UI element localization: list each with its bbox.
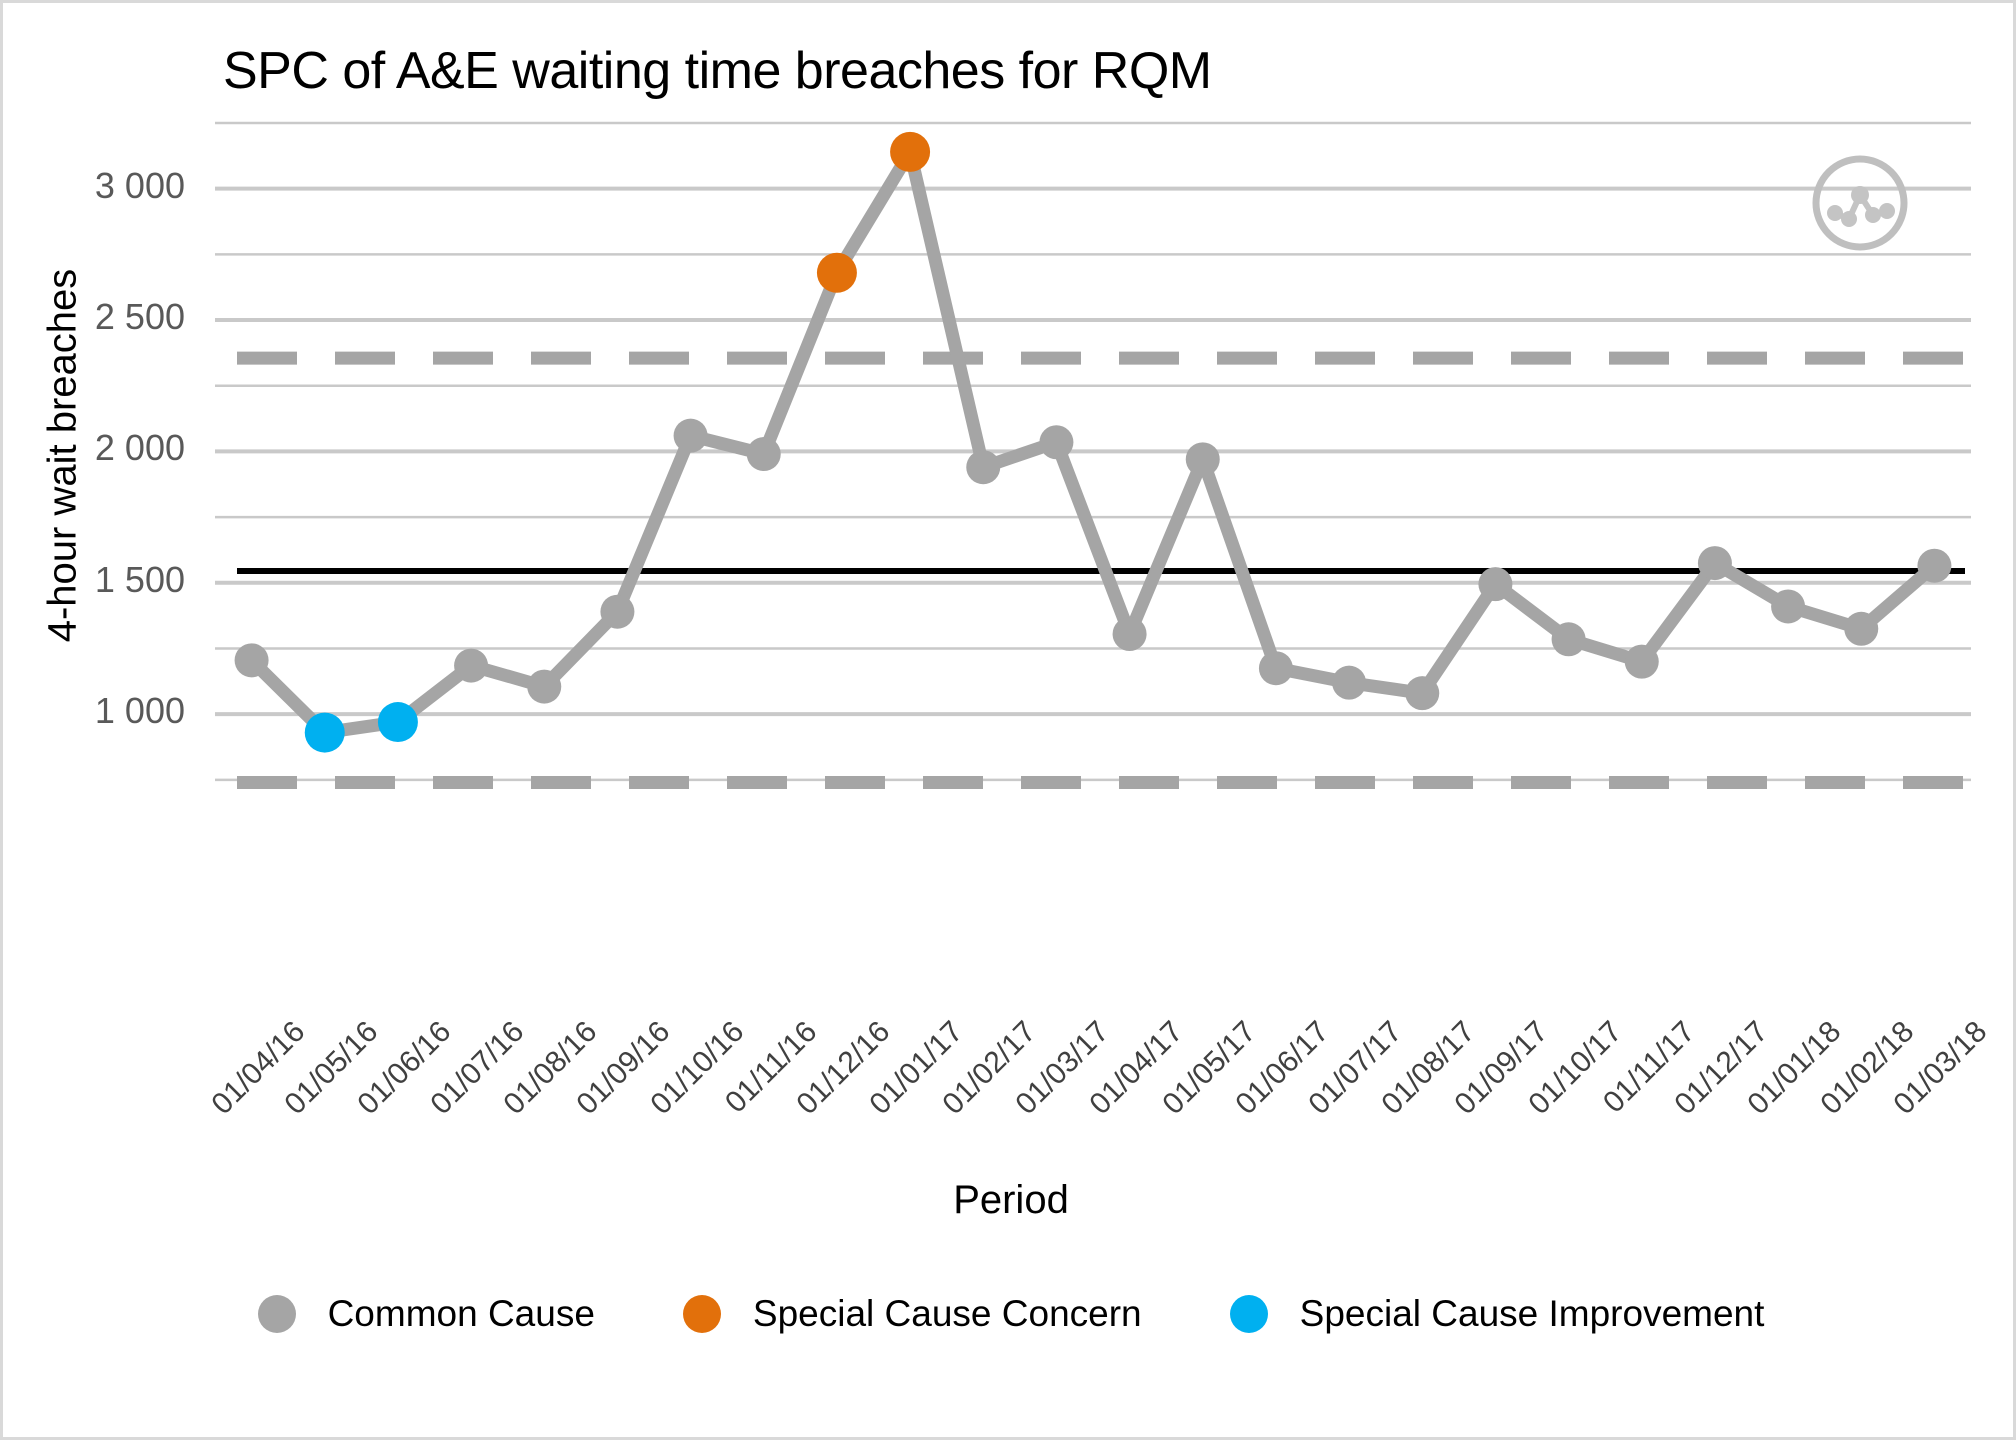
data-point-concern[interactable] (890, 132, 930, 172)
y-axis-tick-label: 3 000 (3, 165, 185, 207)
data-point-improvement[interactable] (305, 713, 345, 753)
chart-legend: Common CauseSpecial Cause ConcernSpecial… (3, 1293, 2016, 1335)
series-polyline (252, 152, 1935, 733)
data-point-common[interactable] (1844, 612, 1878, 646)
legend-label: Common Cause (328, 1293, 595, 1335)
data-point-common[interactable] (966, 450, 1000, 484)
data-point-common[interactable] (1917, 549, 1951, 583)
data-points (235, 132, 1952, 753)
data-point-common[interactable] (1186, 442, 1220, 476)
data-point-common[interactable] (1259, 651, 1293, 685)
data-point-common[interactable] (235, 643, 269, 677)
data-point-common[interactable] (1771, 589, 1805, 623)
y-axis-tick-label: 1 000 (3, 690, 185, 732)
legend-label: Special Cause Improvement (1300, 1293, 1765, 1335)
legend-marker-icon (683, 1295, 721, 1333)
legend-item-improvement[interactable]: Special Cause Improvement (1230, 1293, 1765, 1335)
legend-marker-icon (258, 1295, 296, 1333)
data-point-common[interactable] (600, 595, 634, 629)
legend-label: Special Cause Concern (753, 1293, 1142, 1335)
data-point-common[interactable] (1698, 546, 1732, 580)
plot-area (3, 3, 2016, 1440)
y-axis-tick-label: 1 500 (3, 559, 185, 601)
y-axis-title: 4-hour wait breaches (41, 246, 86, 666)
series-line (252, 152, 1935, 733)
data-point-common[interactable] (1625, 645, 1659, 679)
chart-canvas: SPC of A&E waiting time breaches for RQM… (0, 0, 2016, 1440)
spc-chart-logo-icon (1808, 151, 1912, 255)
data-point-common[interactable] (454, 649, 488, 683)
data-point-common[interactable] (1552, 622, 1586, 656)
y-axis-tick-label: 2 000 (3, 427, 185, 469)
legend-item-concern[interactable]: Special Cause Concern (683, 1293, 1142, 1335)
data-point-common[interactable] (1039, 425, 1073, 459)
data-point-common[interactable] (674, 419, 708, 453)
data-point-common[interactable] (1113, 617, 1147, 651)
x-axis-title: Period (3, 1178, 2016, 1223)
data-point-concern[interactable] (817, 253, 857, 293)
data-point-common[interactable] (1405, 676, 1439, 710)
legend-item-common[interactable]: Common Cause (258, 1293, 595, 1335)
data-point-common[interactable] (747, 437, 781, 471)
data-point-common[interactable] (1478, 567, 1512, 601)
y-axis-tick-label: 2 500 (3, 296, 185, 338)
gridlines (215, 123, 1971, 780)
data-point-improvement[interactable] (378, 702, 418, 742)
data-point-common[interactable] (1332, 666, 1366, 700)
legend-marker-icon (1230, 1295, 1268, 1333)
data-point-common[interactable] (527, 670, 561, 704)
